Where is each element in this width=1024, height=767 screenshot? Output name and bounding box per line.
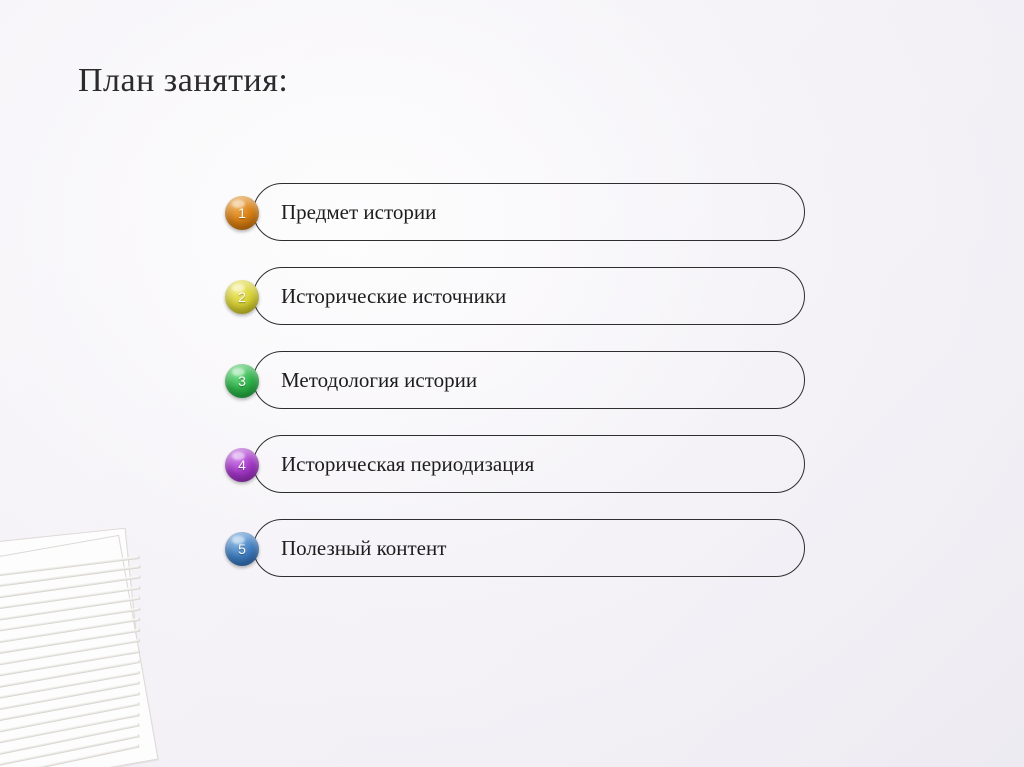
- plan-list: 1 Предмет истории 2 Исторические источни…: [225, 183, 805, 603]
- item-number-4: 4: [238, 457, 246, 473]
- list-item[interactable]: 3 Методология истории: [225, 351, 805, 413]
- item-number-1: 1: [238, 205, 246, 221]
- item-number-5: 5: [238, 541, 246, 557]
- item-number-2: 2: [238, 289, 246, 305]
- item-number-badge-5: 5: [225, 532, 259, 566]
- item-number-badge-4: 4: [225, 448, 259, 482]
- item-label-2: Исторические источники: [281, 267, 506, 325]
- list-item[interactable]: 4 Историческая периодизация: [225, 435, 805, 497]
- paper-stack-decoration: [0, 507, 190, 767]
- item-label-1: Предмет истории: [281, 183, 436, 241]
- item-number-badge-1: 1: [225, 196, 259, 230]
- list-item[interactable]: 5 Полезный контент: [225, 519, 805, 581]
- item-number-3: 3: [238, 373, 246, 389]
- slide-canvas: План занятия: 1 Предмет истории 2 Истори…: [0, 0, 1024, 767]
- item-number-badge-2: 2: [225, 280, 259, 314]
- list-item[interactable]: 1 Предмет истории: [225, 183, 805, 245]
- item-label-3: Методология истории: [281, 351, 477, 409]
- item-label-5: Полезный контент: [281, 519, 446, 577]
- list-item[interactable]: 2 Исторические источники: [225, 267, 805, 329]
- page-title: План занятия:: [78, 62, 288, 100]
- item-label-4: Историческая периодизация: [281, 435, 534, 493]
- item-number-badge-3: 3: [225, 364, 259, 398]
